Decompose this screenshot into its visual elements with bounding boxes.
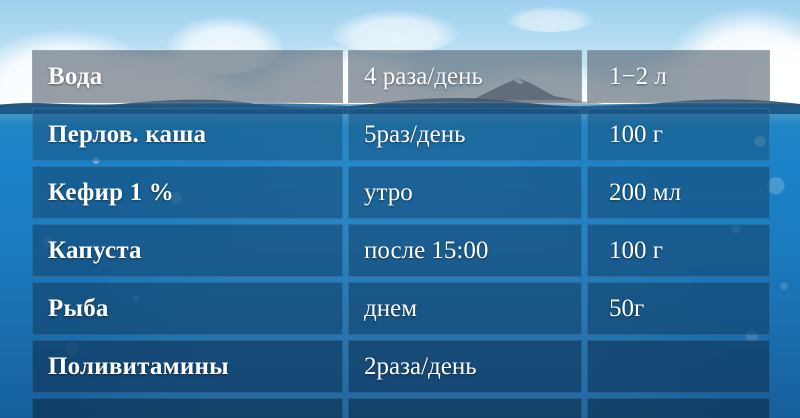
cell-product: Кефир 1 % xyxy=(32,166,343,219)
cell-frequency: 4 раза/день xyxy=(348,50,582,103)
screenshot-canvas: Вода 4 раза/день 1−2 л Перлов. каша 5раз… xyxy=(0,0,800,418)
cell-amount: 200 мл xyxy=(587,166,770,219)
cell-frequency xyxy=(348,398,582,418)
cell-amount xyxy=(587,398,770,418)
cell-product: Вода xyxy=(32,50,343,103)
table-row: Поливитамины 2раза/день xyxy=(32,340,770,393)
cell-amount: 100 г xyxy=(587,224,770,277)
cell-product: Перлов. каша xyxy=(32,108,343,161)
cell-amount: 100 г xyxy=(587,108,770,161)
table-row: Рыба днем 50г xyxy=(32,282,770,335)
cloud-shape xyxy=(505,6,595,32)
cell-product: Капуста xyxy=(32,224,343,277)
cell-amount: 50г xyxy=(587,282,770,335)
diet-table: Вода 4 раза/день 1−2 л Перлов. каша 5раз… xyxy=(32,50,770,418)
cell-amount: 1−2 л xyxy=(587,50,770,103)
cell-frequency: 2раза/день xyxy=(348,340,582,393)
cell-frequency: 5раз/день xyxy=(348,108,582,161)
cell-amount xyxy=(587,340,770,393)
cell-product: Рыба xyxy=(32,282,343,335)
table-row: Перлов. каша 5раз/день 100 г xyxy=(32,108,770,161)
cell-frequency: после 15:00 xyxy=(348,224,582,277)
cell-frequency: днем xyxy=(348,282,582,335)
cell-product xyxy=(32,398,343,418)
cell-frequency: утро xyxy=(348,166,582,219)
cell-product: Поливитамины xyxy=(32,340,343,393)
table-row: Капуста после 15:00 100 г xyxy=(32,224,770,277)
table-row: Вода 4 раза/день 1−2 л xyxy=(32,50,770,103)
table-row: Кефир 1 % утро 200 мл xyxy=(32,166,770,219)
table-row xyxy=(32,398,770,418)
cloud-shape xyxy=(330,10,460,54)
